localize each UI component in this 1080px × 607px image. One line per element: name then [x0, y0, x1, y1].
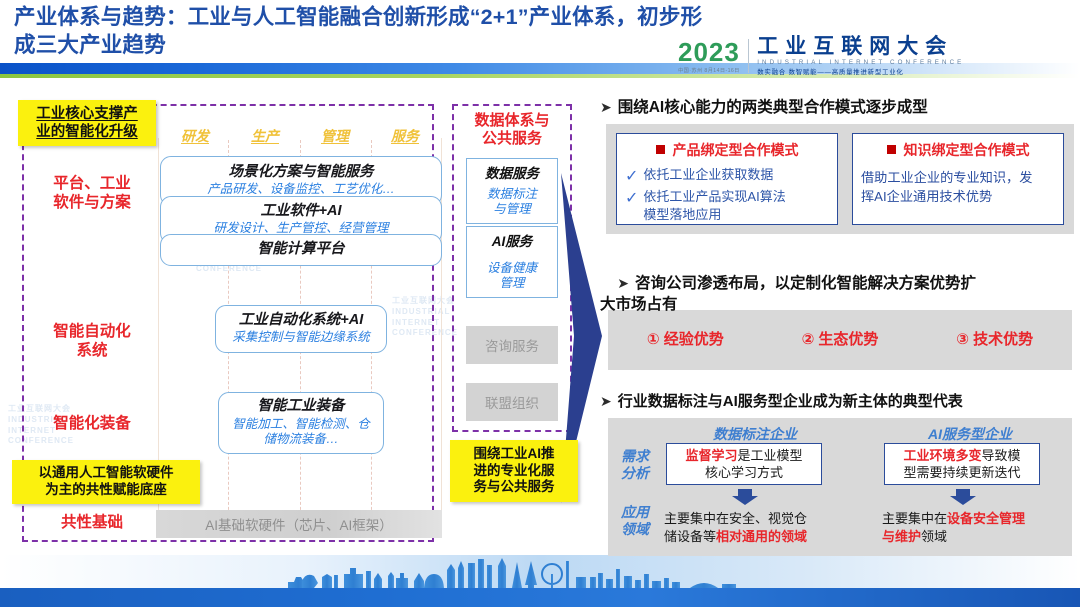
- row-label-equipment: 智能化装备: [26, 415, 158, 434]
- box-industrial-automation-ai[interactable]: 工业自动化系统+AI 采集控制与智能边缘系统: [215, 305, 387, 353]
- logo-divider: [748, 39, 749, 73]
- data-system-title: 数据体系与 公共服务: [452, 112, 572, 148]
- box-ai-service[interactable]: AI服务 设备健康 管理: [466, 226, 558, 298]
- table-col-header-ai-service: AI服务型企业: [880, 424, 1060, 444]
- cell-text: 监督学习是工业模型 核心学习方式: [685, 447, 802, 482]
- page-title: 产业体系与趋势：工业与人工智能融合创新形成“2+1”产业体系，初步形 成三大产业…: [14, 4, 734, 60]
- bottom-skyline-band: [0, 555, 1080, 607]
- table-row-header-application: 应用 领域: [610, 504, 660, 538]
- bullet-text: 依托工业产品实现AI算法 模型落地应用: [643, 188, 785, 225]
- chevron-right-icon: ➤: [600, 99, 612, 115]
- down-arrow-icon: [950, 489, 976, 505]
- logo-year-block: 2023 中国·苏州 8月14日-16日: [678, 39, 740, 74]
- box-ai-foundation[interactable]: AI基础软硬件（芯片、AI框架）: [156, 510, 442, 538]
- bullet-item: ✓ 依托工业产品实现AI算法 模型落地应用: [625, 188, 829, 225]
- chevron-right-icon: ➤: [600, 393, 612, 409]
- cell-text-red: 相对通用的领域: [716, 529, 807, 544]
- box-title: AI基础软硬件（芯片、AI框架）: [205, 514, 393, 534]
- logo-title-en: INDUSTRIAL INTERNET CONFERENCE: [757, 59, 964, 66]
- box-title: 智能工业装备: [258, 398, 345, 415]
- table-row-header-demand: 需求 分析: [610, 448, 660, 482]
- page-title-line2: 成三大产业趋势: [14, 32, 734, 60]
- callout-core-industry-upgrade[interactable]: 工业核心支撑产 业的智能化升级: [18, 100, 156, 146]
- right-heading-2: ➤咨询公司渗透布局，以定制化智能解决方案优势扩 大市场占有: [600, 254, 1070, 336]
- card-title-text: 产品绑定型合作模式: [673, 142, 799, 158]
- box-title: 工业软件+AI: [261, 203, 342, 220]
- box-intelligent-computing-platform[interactable]: 智能计算平台: [160, 234, 442, 266]
- box-data-service[interactable]: 数据服务 数据标注 与管理: [466, 158, 558, 224]
- callout-industrial-ai-services[interactable]: 围绕工业AI推 进的专业化服 务与公共服务: [450, 440, 578, 502]
- card-product-binding[interactable]: 产品绑定型合作模式 ✓ 依托工业企业获取数据 ✓ 依托工业产品实现AI算法 模型…: [616, 133, 838, 225]
- box-subtitle: 智能加工、智能检测、仓 储物流装备…: [232, 417, 370, 448]
- cell-text-strong: 监督学习: [685, 448, 737, 463]
- card-title: 知识绑定型合作模式: [861, 140, 1055, 160]
- logo-title-cn: 工业互联网大会: [757, 36, 964, 58]
- box-title: AI服务: [492, 230, 533, 250]
- cell-application-data-annotation: 主要集中在安全、视觉仓 储设备等相对通用的领域: [664, 510, 844, 545]
- card-title-text: 知识绑定型合作模式: [904, 142, 1030, 158]
- box-title: 数据服务: [485, 162, 539, 182]
- logo-year: 2023: [678, 39, 740, 65]
- right-heading-1-text: 围绕AI核心能力的两类典型合作模式逐步成型: [618, 99, 928, 116]
- box-subtitle: 数据标注 与管理: [487, 187, 537, 217]
- row-label-automation: 智能自动化 系统: [26, 323, 158, 361]
- box-consulting-service[interactable]: 咨询服务: [466, 326, 558, 364]
- right-heading-1: ➤围绕AI核心能力的两类典型合作模式逐步成型: [600, 98, 1070, 118]
- box-subtitle: 设备健康 管理: [487, 261, 537, 291]
- page-title-line1: 产业体系与趋势：工业与人工智能融合创新形成“2+1”产业体系，初步形: [14, 4, 734, 32]
- box-title: 工业自动化系统+AI: [239, 312, 363, 329]
- bullet-item: ✓ 依托工业企业获取数据: [625, 166, 829, 186]
- conference-logo: 2023 中国·苏州 8月14日-16日 工业互联网大会 INDUSTRIAL …: [678, 36, 1072, 76]
- logo-date: 中国·苏州 8月14日-16日: [678, 67, 740, 74]
- cell-demand-data-annotation[interactable]: 监督学习是工业模型 核心学习方式: [666, 443, 822, 485]
- square-bullet-icon: [656, 145, 665, 154]
- column-header-production: 生产: [230, 126, 300, 146]
- right-heading-2-text: 咨询公司渗透布局，以定制化智能解决方案优势扩 大市场占有: [600, 275, 976, 312]
- cell-text-strong: 工业环境多变: [903, 448, 981, 463]
- box-alliance-organization[interactable]: 联盟组织: [466, 383, 558, 421]
- check-icon: ✓: [625, 166, 638, 186]
- logo-text-block: 工业互联网大会 INDUSTRIAL INTERNET CONFERENCE 数…: [757, 36, 964, 77]
- callout-general-ai-base[interactable]: 以通用人工智能软硬件 为主的共性赋能底座: [12, 460, 200, 504]
- card-knowledge-binding[interactable]: 知识绑定型合作模式 借助工业企业的专业知识，发 挥AI企业通用技术优势: [852, 133, 1064, 225]
- card-title: 产品绑定型合作模式: [625, 140, 829, 160]
- square-bullet-icon: [887, 145, 896, 154]
- box-smart-industrial-equipment[interactable]: 智能工业装备 智能加工、智能检测、仓 储物流装备…: [218, 392, 384, 454]
- row-label-foundation: 共性基础: [26, 514, 158, 533]
- cell-application-ai-service: 主要集中在设备安全管理 与维护领域: [882, 510, 1062, 545]
- column-header-service: 服务: [370, 126, 440, 146]
- slide-root: 工业互联网大会INDUSTRIALINTERNETCONFERENCE 工业互联…: [0, 0, 1080, 607]
- cell-text-pre: 主要集中在: [882, 511, 947, 526]
- box-title: 智能计算平台: [258, 241, 345, 258]
- box-title: 场景化方案与智能服务: [229, 164, 374, 181]
- bullet-text: 依托工业企业获取数据: [643, 166, 773, 184]
- cell-text-post: 领域: [921, 529, 947, 544]
- cell-text: 工业环境多变导致模 型需要持续更新迭代: [903, 447, 1020, 482]
- cell-demand-ai-service[interactable]: 工业环境多变导致模 型需要持续更新迭代: [884, 443, 1040, 485]
- right-heading-3-text: 行业数据标注与AI服务型企业成为新主体的典型代表: [618, 393, 963, 410]
- row-label-platform: 平台、工业 软件与方案: [26, 175, 158, 213]
- left-column-headers: 研发 生产 管理 服务: [160, 126, 440, 146]
- right-heading-3: ➤行业数据标注与AI服务型企业成为新主体的典型代表: [600, 392, 1078, 412]
- down-arrow-icon: [732, 489, 758, 505]
- chevron-right-icon: ➤: [617, 275, 629, 291]
- column-header-management: 管理: [300, 126, 370, 146]
- card-body: 借助工业企业的专业知识，发 挥AI企业通用技术优势: [861, 168, 1055, 207]
- column-header-rd: 研发: [160, 126, 230, 146]
- box-subtitle: 采集控制与智能边缘系统: [232, 330, 370, 346]
- table-col-header-data-annotation: 数据标注企业: [660, 424, 850, 444]
- check-icon: ✓: [625, 188, 638, 208]
- logo-subtitle: 数实融合 数智赋能——高质量推进新型工业化: [757, 67, 964, 76]
